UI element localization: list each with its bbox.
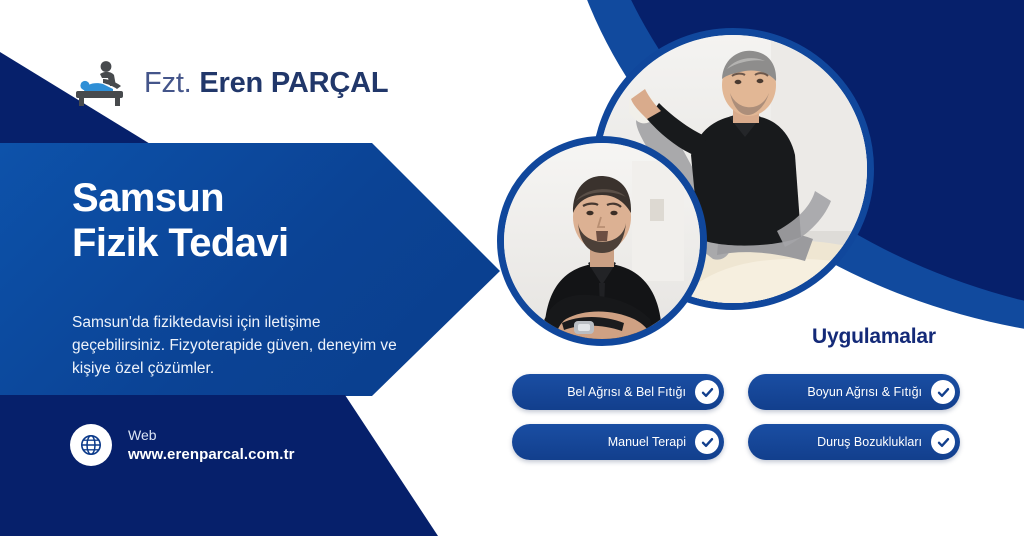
web-url[interactable]: www.erenparcal.com.tr xyxy=(128,446,295,463)
page-title: Samsun Fizik Tedavi xyxy=(72,176,402,266)
applications-list: Bel Ağrısı & Bel Fıtığı Boyun Ağrısı & F… xyxy=(512,374,972,460)
application-pill-boyun-agrisi[interactable]: Boyun Ağrısı & Fıtığı xyxy=(748,374,960,410)
check-circle-icon xyxy=(931,430,955,454)
check-circle-icon xyxy=(695,430,719,454)
promotional-banner: Fzt. Eren PARÇAL Samsun Fizik Tedavi Sam… xyxy=(0,0,1024,536)
application-label: Bel Ağrısı & Bel Fıtığı xyxy=(567,385,686,399)
applications-heading: Uygulamalar xyxy=(812,325,936,349)
page-title-line-2: Fizik Tedavi xyxy=(72,221,289,265)
web-contact[interactable]: Web www.erenparcal.com.tr xyxy=(70,424,295,466)
page-title-line-1: Samsun xyxy=(72,176,224,220)
application-label: Manuel Terapi xyxy=(608,435,686,449)
check-circle-icon xyxy=(695,380,719,404)
brand-name: Eren PARÇAL xyxy=(199,67,388,99)
web-label: Web xyxy=(128,427,295,443)
brand-logo-text: Fzt. Eren PARÇAL xyxy=(144,67,388,100)
hero-text-block: Samsun Fizik Tedavi Samsun'da fiziktedav… xyxy=(72,176,402,381)
application-pill-bel-agrisi[interactable]: Bel Ağrısı & Bel Fıtığı xyxy=(512,374,724,410)
hero-description: Samsun'da fiziktedavisi için iletişime g… xyxy=(72,312,402,381)
brand-prefix: Fzt. xyxy=(144,67,199,99)
application-label: Boyun Ağrısı & Fıtığı xyxy=(807,385,922,399)
brand-logo[interactable]: Fzt. Eren PARÇAL xyxy=(72,58,388,108)
massage-therapy-icon xyxy=(72,58,130,108)
portrait-photo xyxy=(497,136,707,346)
application-label: Duruş Bozuklukları xyxy=(817,435,922,449)
application-pill-durus-bozukluklari[interactable]: Duruş Bozuklukları xyxy=(748,424,960,460)
globe-icon xyxy=(70,424,112,466)
check-circle-icon xyxy=(931,380,955,404)
application-pill-manuel-terapi[interactable]: Manuel Terapi xyxy=(512,424,724,460)
